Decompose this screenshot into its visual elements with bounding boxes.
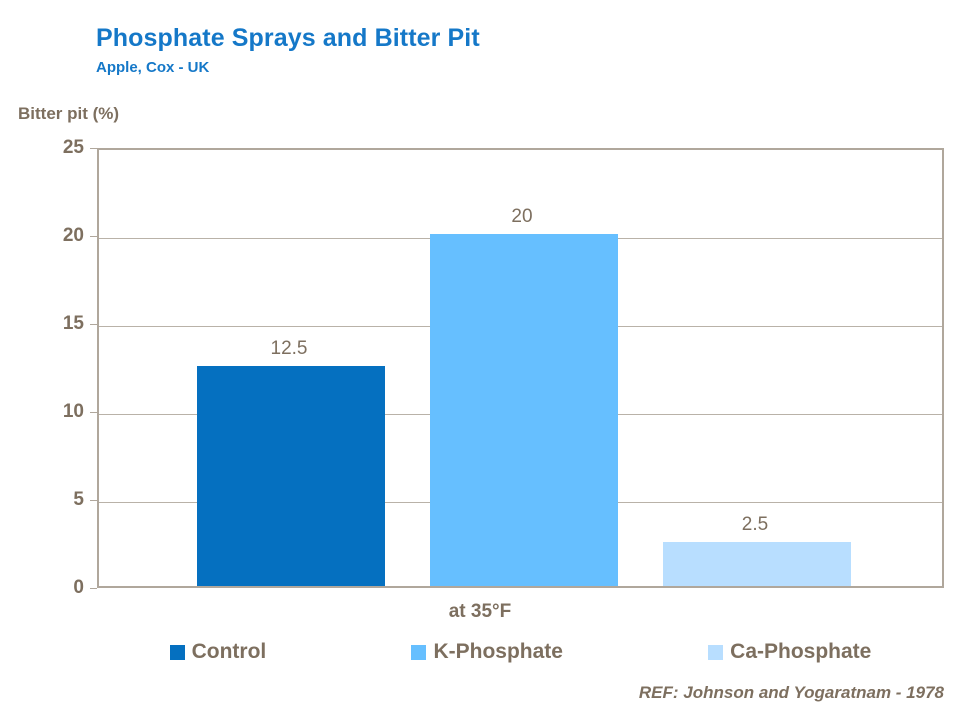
y-axis-tick-mark (90, 412, 97, 413)
y-axis-tick-label: 20 (24, 225, 84, 247)
legend-label: Ca-Phosphate (730, 640, 871, 664)
y-axis-tick-mark (90, 324, 97, 325)
legend-label: K-Phosphate (433, 640, 563, 664)
bar-value-label: 12.5 (271, 338, 308, 360)
bar-k-phosphate[interactable] (430, 234, 618, 586)
chart-container: Phosphate Sprays and Bitter Pit Apple, C… (0, 0, 960, 720)
y-axis-tick-mark (90, 588, 97, 589)
bar-value-label: 2.5 (742, 514, 768, 536)
y-axis-tick-mark (90, 148, 97, 149)
legend-label: Control (192, 640, 267, 664)
y-axis-title: Bitter pit (%) (18, 104, 119, 124)
bar-control[interactable] (197, 366, 385, 586)
legend-item-control[interactable]: Control (170, 640, 267, 664)
y-axis-tick-label: 0 (24, 577, 84, 599)
legend-swatch-icon (708, 645, 723, 660)
y-axis-tick-label: 25 (24, 137, 84, 159)
y-axis-tick-label: 15 (24, 313, 84, 335)
y-axis-tick-label: 10 (24, 401, 84, 423)
legend-item-ca-phosphate[interactable]: Ca-Phosphate (708, 640, 871, 664)
y-axis-tick-mark (90, 500, 97, 501)
y-axis-tick-label: 5 (24, 489, 84, 511)
reference-note: REF: Johnson and Yogaratnam - 1978 (639, 683, 944, 703)
chart-title: Phosphate Sprays and Bitter Pit (96, 24, 480, 53)
legend-item-k-phosphate[interactable]: K-Phosphate (411, 640, 563, 664)
legend-swatch-icon (411, 645, 426, 660)
x-axis-category-label: at 35°F (0, 601, 960, 623)
chart-legend: ControlK-PhosphateCa-Phosphate (97, 640, 944, 664)
y-axis-tick-mark (90, 236, 97, 237)
legend-swatch-icon (170, 645, 185, 660)
chart-subtitle: Apple, Cox - UK (96, 59, 209, 76)
bar-value-label: 20 (511, 206, 532, 228)
bar-ca-phosphate[interactable] (663, 542, 851, 586)
